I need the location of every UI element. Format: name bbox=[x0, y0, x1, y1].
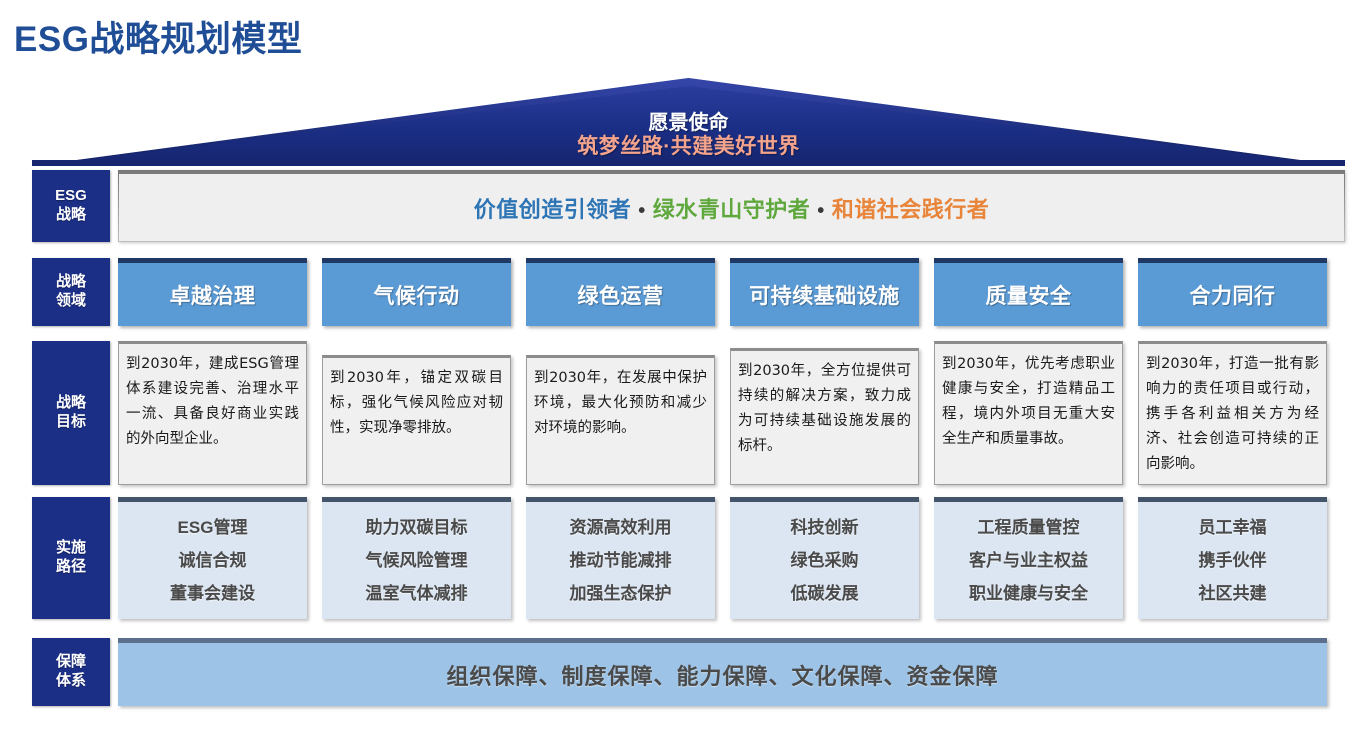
row-label-esg-strategy: ESG 战略 bbox=[32, 170, 110, 242]
esg-separator-1: • bbox=[631, 200, 653, 222]
path-box-2[interactable]: 助力双碳目标 气候风险管理 温室气体减排 bbox=[322, 497, 511, 619]
row-label-guarantee-system-line2: 体系 bbox=[56, 672, 86, 691]
domain-label-2: 气候行动 bbox=[374, 280, 460, 310]
path-item-3-1: 资源高效利用 bbox=[570, 511, 672, 544]
row-label-implementation-path-line2: 路径 bbox=[56, 558, 86, 577]
path-item-5-3: 职业健康与安全 bbox=[969, 577, 1088, 610]
goal-text-1: 到2030年，建成ESG管理体系建设完善、治理水平一流、具备良好商业实践的外向型… bbox=[126, 352, 299, 452]
domain-label-1: 卓越治理 bbox=[170, 280, 256, 310]
guarantee-system-band: 组织保障、制度保障、能力保障、文化保障、资金保障 bbox=[118, 638, 1327, 706]
row-label-strategy-domain-line1: 战略 bbox=[56, 273, 86, 292]
path-item-4-2: 绿色采购 bbox=[791, 544, 859, 577]
esg-strategy-model-diagram: ESG战略规划模型 愿景使命 筑梦丝路·共建美好世界 bbox=[0, 0, 1365, 736]
path-item-6-2: 携手伙伴 bbox=[1199, 544, 1267, 577]
path-item-2-2: 气候风险管理 bbox=[366, 544, 468, 577]
esg-segment-harmony-practitioner: 和谐社会践行者 bbox=[832, 197, 990, 222]
path-item-5-2: 客户与业主权益 bbox=[969, 544, 1088, 577]
row-label-strategy-goal-line2: 目标 bbox=[56, 413, 86, 432]
path-item-5-1: 工程质量管控 bbox=[978, 511, 1080, 544]
goal-text-4: 到2030年，全方位提供可持续的解决方案，致力成为可持续基础设施发展的标杆。 bbox=[738, 359, 911, 459]
guarantee-system-text: 组织保障、制度保障、能力保障、文化保障、资金保障 bbox=[446, 659, 998, 691]
row-label-guarantee-system: 保障 体系 bbox=[32, 638, 110, 706]
domain-box-4[interactable]: 可持续基础设施 bbox=[730, 258, 919, 326]
roof-shape-icon bbox=[32, 78, 1345, 166]
path-item-6-3: 社区共建 bbox=[1199, 577, 1267, 610]
path-item-3-2: 推动节能减排 bbox=[570, 544, 672, 577]
goal-box-4: 到2030年，全方位提供可持续的解决方案，致力成为可持续基础设施发展的标杆。 bbox=[730, 348, 919, 485]
row-label-strategy-goal-line1: 战略 bbox=[56, 394, 86, 413]
esg-segment-green-guardian: 绿水青山守护者 bbox=[653, 197, 811, 222]
path-item-2-3: 温室气体减排 bbox=[366, 577, 468, 610]
page-title: ESG战略规划模型 bbox=[14, 22, 302, 57]
path-item-4-3: 低碳发展 bbox=[791, 577, 859, 610]
path-item-1-3: 董事会建设 bbox=[170, 577, 255, 610]
goal-text-5: 到2030年，优先考虑职业健康与安全，打造精品工程，境内外项目无重大安全生产和质… bbox=[942, 352, 1115, 452]
path-item-4-1: 科技创新 bbox=[791, 511, 859, 544]
row-label-strategy-domain-line2: 领域 bbox=[56, 292, 86, 311]
goal-text-6: 到2030年，打造一批有影响力的责任项目或行动，携手各利益相关方为经济、社会创造… bbox=[1146, 352, 1319, 477]
row-label-guarantee-system-line1: 保障 bbox=[56, 653, 86, 672]
domain-label-5: 质量安全 bbox=[986, 280, 1072, 310]
domain-box-2[interactable]: 气候行动 bbox=[322, 258, 511, 326]
domain-label-3: 绿色运营 bbox=[578, 280, 664, 310]
esg-strategy-statement: 价值创造引领者•绿水青山守护者•和谐社会践行者 bbox=[474, 192, 990, 224]
row-label-strategy-domain: 战略 领域 bbox=[32, 258, 110, 326]
goal-box-2: 到2030年，锚定双碳目标，强化气候风险应对韧性，实现净零排放。 bbox=[322, 355, 511, 485]
goal-box-6: 到2030年，打造一批有影响力的责任项目或行动，携手各利益相关方为经济、社会创造… bbox=[1138, 341, 1327, 485]
path-item-3-3: 加强生态保护 bbox=[570, 577, 672, 610]
row-label-implementation-path: 实施 路径 bbox=[32, 497, 110, 619]
domain-box-1[interactable]: 卓越治理 bbox=[118, 258, 307, 326]
goal-text-2: 到2030年，锚定双碳目标，强化气候风险应对韧性，实现净零排放。 bbox=[330, 366, 503, 441]
path-item-2-1: 助力双碳目标 bbox=[366, 511, 468, 544]
domain-box-5[interactable]: 质量安全 bbox=[934, 258, 1123, 326]
row-label-implementation-path-line1: 实施 bbox=[56, 539, 86, 558]
path-item-1-1: ESG管理 bbox=[178, 511, 248, 544]
path-box-3[interactable]: 资源高效利用 推动节能减排 加强生态保护 bbox=[526, 497, 715, 619]
path-item-1-2: 诚信合规 bbox=[179, 544, 247, 577]
goal-box-5: 到2030年，优先考虑职业健康与安全，打造精品工程，境内外项目无重大安全生产和质… bbox=[934, 341, 1123, 485]
path-item-6-1: 员工幸福 bbox=[1199, 511, 1267, 544]
row-label-esg-strategy-line2: 战略 bbox=[56, 206, 86, 225]
path-box-4[interactable]: 科技创新 绿色采购 低碳发展 bbox=[730, 497, 919, 619]
domain-box-6[interactable]: 合力同行 bbox=[1138, 258, 1327, 326]
goal-text-3: 到2030年，在发展中保护环境，最大化预防和减少对环境的影响。 bbox=[534, 366, 707, 441]
domain-box-3[interactable]: 绿色运营 bbox=[526, 258, 715, 326]
path-box-6[interactable]: 员工幸福 携手伙伴 社区共建 bbox=[1138, 497, 1327, 619]
domain-label-6: 合力同行 bbox=[1190, 280, 1276, 310]
vision-roof: 愿景使命 筑梦丝路·共建美好世界 bbox=[32, 78, 1345, 166]
domain-label-4: 可持续基础设施 bbox=[749, 280, 900, 310]
path-box-5[interactable]: 工程质量管控 客户与业主权益 职业健康与安全 bbox=[934, 497, 1123, 619]
goal-box-3: 到2030年，在发展中保护环境，最大化预防和减少对环境的影响。 bbox=[526, 355, 715, 485]
row-label-esg-strategy-line1: ESG bbox=[55, 187, 87, 206]
path-box-1[interactable]: ESG管理 诚信合规 董事会建设 bbox=[118, 497, 307, 619]
esg-strategy-band: 价值创造引领者•绿水青山守护者•和谐社会践行者 bbox=[118, 170, 1345, 242]
row-label-strategy-goal: 战略 目标 bbox=[32, 341, 110, 485]
esg-separator-2: • bbox=[810, 200, 832, 222]
goal-box-1: 到2030年，建成ESG管理体系建设完善、治理水平一流、具备良好商业实践的外向型… bbox=[118, 341, 307, 485]
esg-segment-value-leader: 价值创造引领者 bbox=[474, 197, 632, 222]
